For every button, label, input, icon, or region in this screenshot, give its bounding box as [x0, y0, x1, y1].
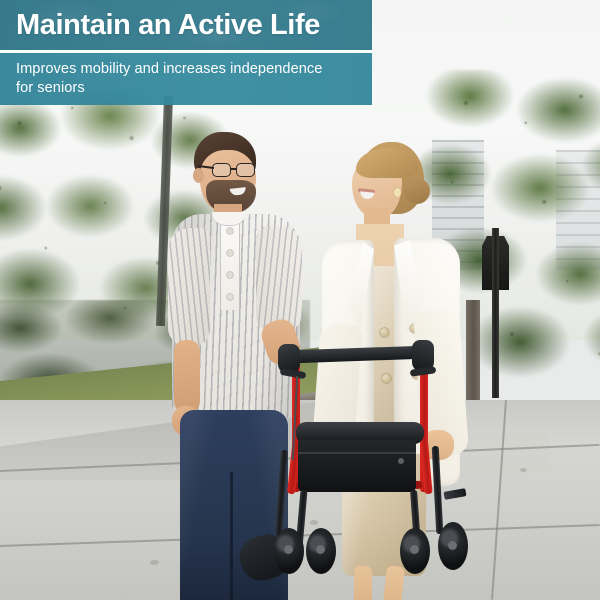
rollator-pouch-seam — [298, 452, 416, 454]
man-ear — [193, 168, 204, 183]
man-left-forearm — [174, 340, 200, 414]
man-shirt-button — [227, 228, 233, 234]
woman-hair-bun — [404, 178, 430, 204]
page-title: Maintain an Active Life — [16, 11, 320, 40]
lamp-post-pole — [492, 228, 499, 398]
man-jeans-inseam — [230, 472, 233, 600]
man-glasses-bridge — [230, 168, 237, 170]
rollator-pouch-stud — [398, 458, 404, 464]
man-shirt-button — [227, 294, 233, 300]
rollator-rear-right-leg — [432, 446, 444, 534]
man-right-sleeve — [256, 226, 302, 332]
rollator-front-right-hub — [410, 545, 419, 554]
rollator-handlebar — [294, 346, 422, 363]
promo-banner-overlay: Maintain an Active Life Improves mobilit… — [0, 0, 372, 105]
rollator-walker — [282, 330, 492, 600]
man-shirt-button — [227, 250, 233, 256]
banner-subtitle-line-1: Improves mobility and increases independ… — [16, 60, 372, 79]
promo-banner-image: Maintain an Active Life Improves mobilit… — [0, 0, 600, 600]
man-shirt-button — [227, 272, 233, 278]
rollator-front-left-hub — [316, 545, 325, 554]
banner-subtitle-band: Improves mobility and increases independ… — [0, 53, 372, 105]
banner-title-band: Maintain an Active Life — [0, 0, 372, 50]
banner-subtitle-line-2: for seniors — [16, 79, 372, 98]
woman-hair-front — [356, 148, 418, 178]
man-left-sleeve — [168, 228, 210, 346]
man-glasses-right-lens — [236, 163, 255, 177]
path-speck — [150, 560, 159, 565]
rollator-rear-left-hub — [284, 545, 293, 554]
man-glasses-left-lens — [212, 163, 231, 177]
rollator-rear-right-hub — [448, 541, 457, 550]
rollator-storage-pouch — [298, 440, 416, 492]
path-speck — [520, 468, 527, 472]
woman-earring — [394, 188, 401, 197]
rollator-rear-right-fork — [443, 488, 466, 500]
